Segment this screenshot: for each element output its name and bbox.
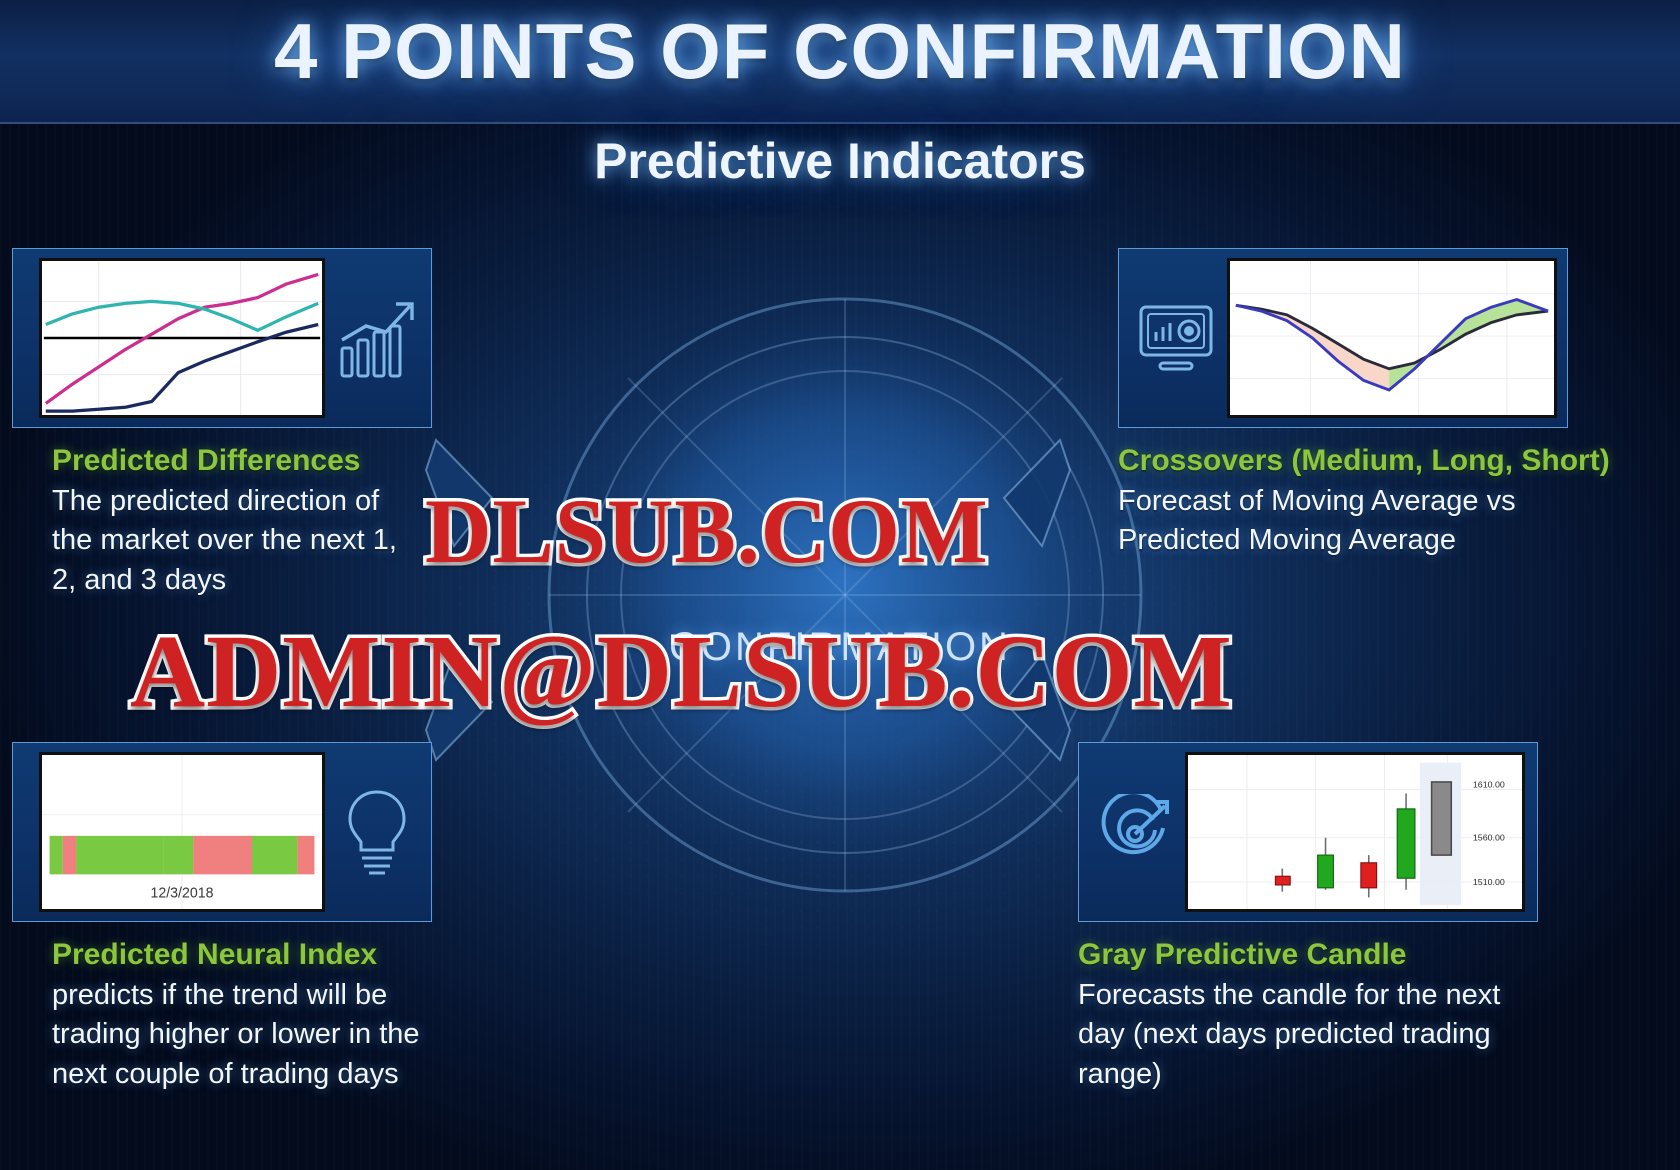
chart-neural-index: 12/3/2018 xyxy=(39,752,325,912)
page-subtitle: Predictive Indicators xyxy=(0,132,1680,190)
quadrant-crossovers[interactable]: Crossovers (Medium, Long, Short) Forecas… xyxy=(1118,248,1568,561)
chart-crossovers xyxy=(1227,258,1557,418)
caption-body: Forecast of Moving Average vs Predicted … xyxy=(1118,482,1518,561)
quadrant-predicted-differences[interactable]: Predicted Differences The predicted dire… xyxy=(12,248,432,600)
caption-neural-index: Predicted Neural Index predicts if the t… xyxy=(52,938,452,1094)
caption-predicted-differences: Predicted Differences The predicted dire… xyxy=(52,444,402,600)
caption-body: Forecasts the candle for the next day (n… xyxy=(1078,976,1508,1094)
caption-crossovers: Crossovers (Medium, Long, Short) Forecas… xyxy=(1118,444,1588,561)
caption-title: Predicted Neural Index xyxy=(52,938,452,972)
caption-body: The predicted direction of the market ov… xyxy=(52,482,402,600)
caption-title: Gray Predictive Candle xyxy=(1078,938,1508,972)
monitor-chart-icon xyxy=(1133,295,1219,381)
caption-title: Crossovers (Medium, Long, Short) xyxy=(1118,444,1588,478)
thumb-predicted-differences xyxy=(12,248,432,428)
quadrant-predicted-neural-index[interactable]: 12/3/2018 Predicted Neural Index predict… xyxy=(12,742,432,1094)
svg-text:12/3/2018: 12/3/2018 xyxy=(150,885,213,901)
svg-text:1510.00: 1510.00 xyxy=(1473,877,1505,887)
chart-predicted-differences xyxy=(39,258,325,418)
svg-text:1560.00: 1560.00 xyxy=(1473,833,1505,843)
target-icon xyxy=(1093,790,1177,874)
lightbulb-icon xyxy=(331,777,423,887)
caption-body: predicts if the trend will be trading hi… xyxy=(52,976,452,1094)
caption-title: Predicted Differences xyxy=(52,444,402,478)
chart-gray-candle: 1610.00 1560.00 1510.00 xyxy=(1185,752,1525,912)
quadrant-gray-predictive-candle[interactable]: 1610.00 1560.00 1510.00 Gray Predictive … xyxy=(1078,742,1538,1094)
caption-gray-candle: Gray Predictive Candle Forecasts the can… xyxy=(1078,938,1508,1094)
watermark-email: ADMIN@DLSUB.COM xyxy=(130,612,1233,731)
bar-chart-arrow-up-icon xyxy=(331,283,423,393)
watermark-site: DLSUB.COM xyxy=(425,478,989,584)
thumb-gray-candle: 1610.00 1560.00 1510.00 xyxy=(1078,742,1538,922)
thumb-neural-index: 12/3/2018 xyxy=(12,742,432,922)
svg-text:1610.00: 1610.00 xyxy=(1473,780,1505,790)
thumb-crossovers xyxy=(1118,248,1568,428)
page-title: 4 POINTS OF CONFIRMATION xyxy=(0,6,1680,97)
slide-root: 4 POINTS OF CONFIRMATION Predictive Indi… xyxy=(0,0,1680,1170)
